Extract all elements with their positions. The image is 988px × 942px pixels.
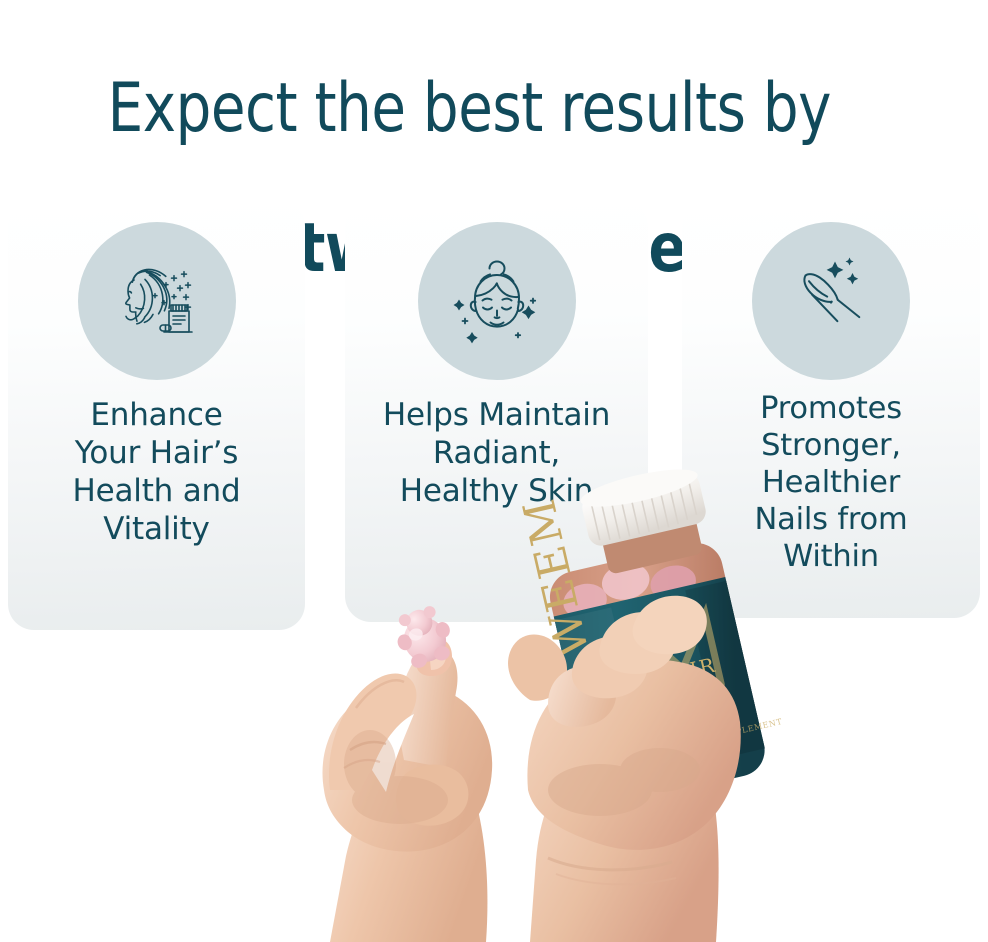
benefit-card-hair: Enhance Your Hair’s Health and Vitality — [8, 200, 305, 630]
hair-woman-supplement-bottle-icon — [78, 222, 236, 380]
benefit-card-nails-text: Promotes Stronger, Healthier Nails from … — [682, 390, 980, 575]
benefit-card-nails: Promotes Stronger, Healthier Nails from … — [682, 200, 980, 618]
benefit-card-skin: Helps Maintain Radiant, Healthy Skin — [345, 200, 648, 622]
product-benefits-infographic: Expect the best results by taking two gu… — [0, 0, 988, 942]
radiant-face-skin-icon — [418, 222, 576, 380]
fingernail-sparkle-icon — [752, 222, 910, 380]
benefit-card-skin-text: Helps Maintain Radiant, Healthy Skin — [345, 396, 648, 510]
benefit-card-row: Enhance Your Hair’s Health and Vitality — [0, 0, 988, 942]
benefit-card-hair-text: Enhance Your Hair’s Health and Vitality — [8, 396, 305, 548]
